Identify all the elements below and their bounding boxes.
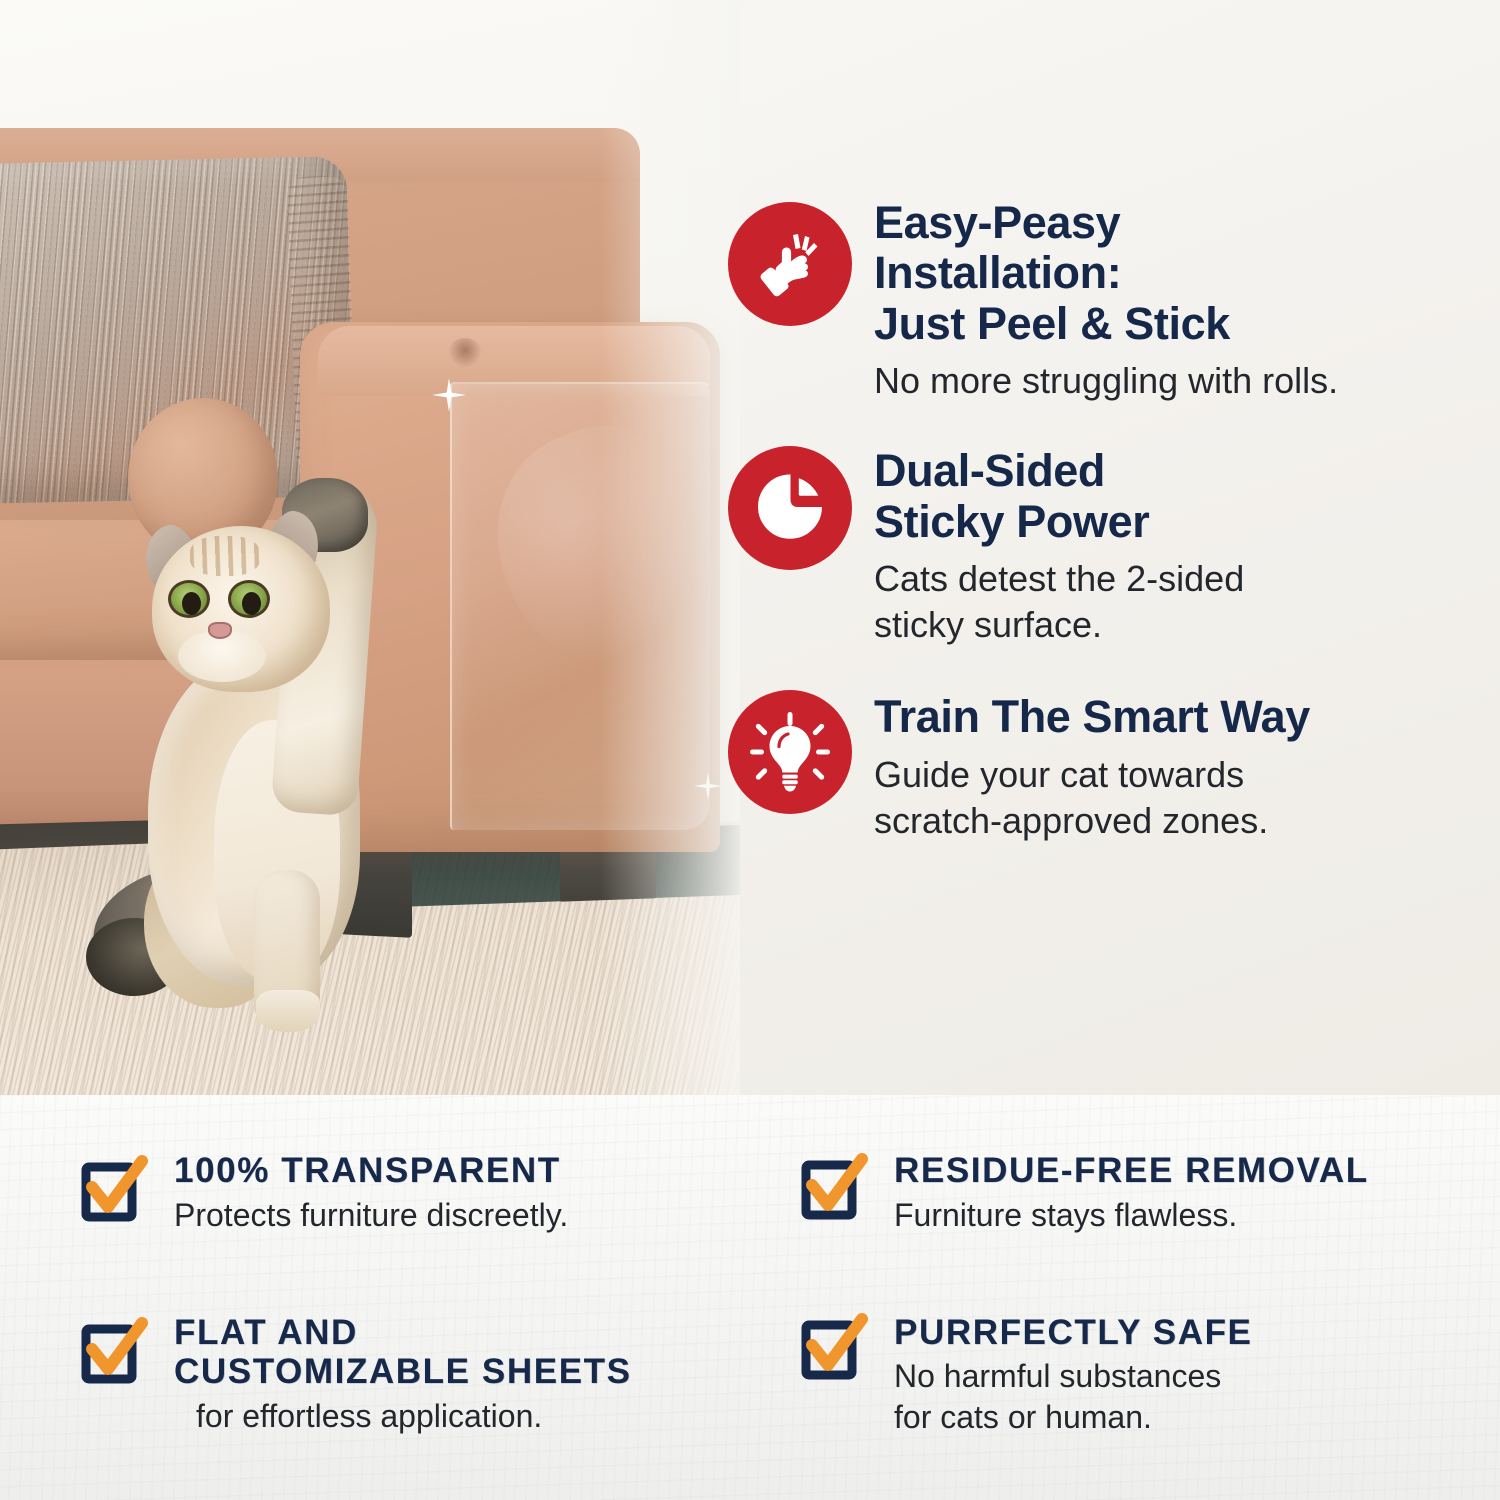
benefit-description-line: for effortless application. [196, 1396, 632, 1436]
kitten-pupil-right [242, 592, 261, 615]
benefits-section: 100% TRANSPARENT Protects furniture disc… [0, 1095, 1500, 1500]
snap-fingers-icon [728, 202, 852, 326]
benefit-description-line: for cats or human. [894, 1397, 1253, 1437]
benefit-description: for effortless application. [196, 1396, 632, 1436]
benefit-title-line: 100% TRANSPARENT [174, 1151, 568, 1191]
sofa-arm-crease [448, 338, 482, 368]
benefit-description: No harmful substances for cats or human. [894, 1356, 1253, 1437]
feature-description-line: sticky surface. [874, 602, 1244, 648]
feature-text-dual-sided: Dual-Sided Sticky Power Cats detest the … [874, 444, 1244, 648]
feature-title-dual-sided: Dual-Sided Sticky Power [874, 446, 1244, 547]
benefit-title: FLAT AND CUSTOMIZABLE SHEETS [174, 1313, 632, 1393]
feature-title-line: Just Peel & Stick [874, 299, 1338, 349]
feature-item-dual-sided: Dual-Sided Sticky Power Cats detest the … [728, 444, 1488, 648]
benefit-description-line: No harmful substances [894, 1356, 1253, 1396]
feature-title-line: Train The Smart Way [874, 692, 1310, 742]
kitten-pupil-left [182, 592, 201, 615]
feature-title-line: Installation: [874, 248, 1338, 298]
feature-description-line: scratch-approved zones. [874, 798, 1310, 844]
benefit-title-line: FLAT AND [174, 1313, 632, 1353]
benefit-item-safe: PURRFECTLY SAFE No harmful substances fo… [798, 1313, 1500, 1475]
benefit-title: 100% TRANSPARENT [174, 1151, 568, 1191]
kitten-forehead-markings [190, 536, 260, 576]
benefit-title-line: PURRFECTLY SAFE [894, 1313, 1253, 1353]
feature-text-installation: Easy-Peasy Installation: Just Peel & Sti… [874, 196, 1338, 404]
benefit-item-residue-free: RESIDUE-FREE REMOVAL Furniture stays fla… [798, 1151, 1500, 1313]
benefit-item-customizable: FLAT AND CUSTOMIZABLE SHEETS for effortl… [78, 1313, 798, 1475]
kitten-nose [208, 622, 232, 639]
hero-section: Easy-Peasy Installation: Just Peel & Sti… [0, 0, 1500, 1095]
benefit-text-safe: PURRFECTLY SAFE No harmful substances fo… [894, 1313, 1253, 1438]
feature-description-training: Guide your cat towards scratch-approved … [874, 752, 1310, 844]
feature-description-installation: No more struggling with rolls. [874, 358, 1338, 404]
feature-title-installation: Easy-Peasy Installation: Just Peel & Sti… [874, 198, 1338, 349]
benefit-item-transparent: 100% TRANSPARENT Protects furniture disc… [78, 1151, 798, 1313]
feature-title-line: Dual-Sided [874, 446, 1244, 496]
feature-title-line: Easy-Peasy [874, 198, 1338, 248]
benefit-text-customizable: FLAT AND CUSTOMIZABLE SHEETS for effortl… [174, 1313, 632, 1437]
feature-text-training: Train The Smart Way Guide your cat towar… [874, 690, 1310, 844]
kitten-illustration [86, 470, 416, 1040]
benefit-title-line: CUSTOMIZABLE SHEETS [174, 1352, 632, 1392]
benefit-title: PURRFECTLY SAFE [894, 1313, 1253, 1353]
feature-item-installation: Easy-Peasy Installation: Just Peel & Sti… [728, 196, 1488, 404]
benefit-description: Protects furniture discreetly. [174, 1195, 568, 1235]
kitten-eye-left [168, 580, 210, 618]
checkbox-checked-icon [78, 1317, 152, 1389]
lightbulb-icon [728, 690, 852, 814]
benefit-description: Furniture stays flawless. [894, 1195, 1369, 1235]
benefit-text-residue-free: RESIDUE-FREE REMOVAL Furniture stays fla… [894, 1151, 1369, 1235]
feature-list: Easy-Peasy Installation: Just Peel & Sti… [728, 196, 1488, 844]
benefits-checklist: 100% TRANSPARENT Protects furniture disc… [0, 1095, 1500, 1500]
feature-description-line: Cats detest the 2-sided [874, 556, 1244, 602]
product-infographic: Easy-Peasy Installation: Just Peel & Sti… [0, 0, 1500, 1500]
checkbox-checked-icon [798, 1313, 872, 1385]
checkbox-checked-icon [78, 1155, 152, 1227]
feature-item-training: Train The Smart Way Guide your cat towar… [728, 690, 1488, 844]
feature-description-line: Guide your cat towards [874, 752, 1310, 798]
benefit-title: RESIDUE-FREE REMOVAL [894, 1151, 1369, 1191]
benefit-description-line: Protects furniture discreetly. [174, 1195, 568, 1235]
benefit-title-line: RESIDUE-FREE REMOVAL [894, 1151, 1369, 1191]
photo-edge-fade [600, 0, 740, 1095]
peeling-sticker-icon [728, 446, 852, 570]
feature-title-line: Sticky Power [874, 497, 1244, 547]
feature-description-dual-sided: Cats detest the 2-sided sticky surface. [874, 556, 1244, 648]
kitten-eye-right [228, 580, 270, 618]
feature-title-training: Train The Smart Way [874, 692, 1310, 742]
checkbox-checked-icon [798, 1153, 872, 1225]
product-photo [0, 0, 740, 1095]
benefit-text-transparent: 100% TRANSPARENT Protects furniture disc… [174, 1151, 568, 1235]
benefit-description-line: Furniture stays flawless. [894, 1195, 1369, 1235]
kitten-standing-paw [256, 990, 320, 1032]
